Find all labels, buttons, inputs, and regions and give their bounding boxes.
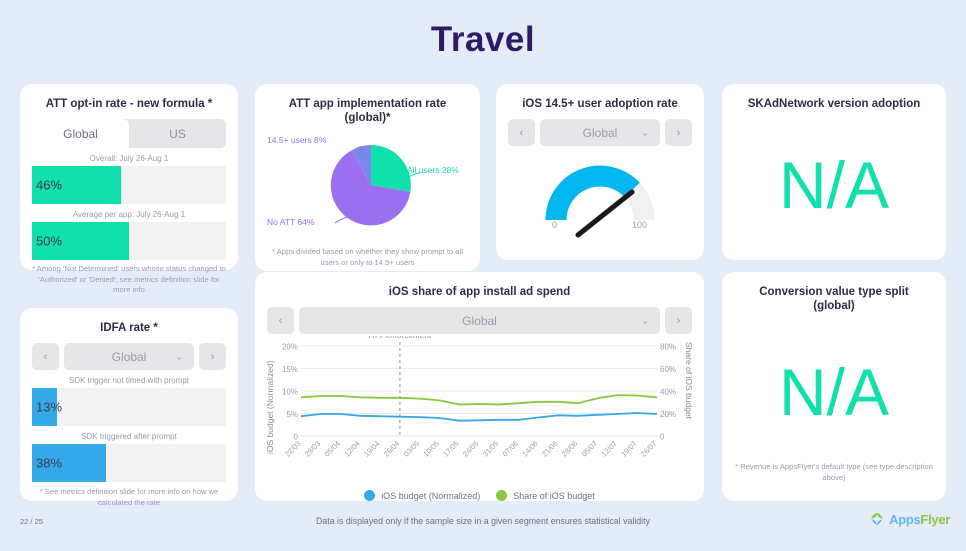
- chevron-down-icon: ⌄: [641, 127, 649, 138]
- page-title: Travel: [0, 20, 966, 60]
- tab-global[interactable]: Global: [32, 119, 129, 148]
- region-select-value: Global: [583, 126, 618, 140]
- x-axis-tick: 17/05: [441, 439, 460, 458]
- idfa-metric-1-bar: 38%: [32, 444, 226, 482]
- idfa-title: IDFA rate *: [32, 321, 226, 335]
- region-select-value: Global: [462, 314, 497, 328]
- x-axis-tick: 31/05: [481, 439, 500, 458]
- region-select[interactable]: Global ⌄: [299, 307, 660, 334]
- x-axis-tick: 21/06: [540, 439, 559, 458]
- conversion-value-title: Conversion value type split (global): [734, 285, 934, 313]
- x-axis-tick: 14/06: [520, 439, 539, 458]
- idfa-selector[interactable]: ‹ Global ⌄ ›: [32, 343, 226, 370]
- prev-button[interactable]: ‹: [267, 307, 294, 334]
- att-implementation-title: ATT app implementation rate (global)*: [267, 97, 468, 125]
- y-axis-left-title: iOS budget (Normalized): [265, 342, 275, 454]
- ios-share-selector[interactable]: ‹ Global ⌄ ›: [267, 307, 692, 334]
- y-axis-right-tick: 60%: [660, 365, 676, 374]
- legend-dot-icon: [364, 490, 375, 501]
- att-optin-metric-1-value: 50%: [36, 234, 62, 249]
- skadnetwork-na-value: N/A: [734, 119, 934, 250]
- ios-share-card: iOS share of app install ad spend ‹ Glob…: [255, 272, 704, 501]
- legend-item-ios-budget: iOS budget (Normalized): [364, 490, 480, 501]
- conversion-value-note: * Revenue is AppsFlyer's default type (s…: [734, 462, 934, 483]
- x-axis-tick: 19/04: [362, 439, 381, 458]
- x-axis-tick: 26/04: [382, 439, 401, 458]
- x-axis-tick: 03/05: [402, 439, 421, 458]
- att-optin-metric-0-label: Overall: July 26-Aug 1: [32, 154, 226, 163]
- footer-note: Data is displayed only if the sample siz…: [0, 516, 966, 526]
- gauge-max-label: 100: [632, 220, 647, 230]
- ios-adoption-gauge: 0 100: [508, 146, 692, 238]
- att-optin-note: * Among 'Not Determined' users whose sta…: [32, 264, 226, 296]
- x-axis-tick: 28/06: [560, 439, 579, 458]
- x-axis-tick: 29/03: [303, 439, 322, 458]
- att-optin-metric-0-bar: 46%: [32, 166, 226, 204]
- appsflyer-mark-icon: [868, 510, 886, 528]
- idfa-note: * See metrics definition slide for more …: [32, 487, 226, 508]
- pie-label-no-att: No ATT 64%: [267, 217, 314, 227]
- y-axis-right-tick: 80%: [660, 343, 676, 352]
- legend-label: Share of iOS budget: [513, 491, 595, 501]
- y-axis-left-tick: 5%: [286, 410, 298, 419]
- prev-button[interactable]: ‹: [32, 343, 59, 370]
- next-button[interactable]: ›: [665, 307, 692, 334]
- pie-label-145-users: 14.5+ users 8%: [267, 135, 326, 145]
- conversion-value-na-value: N/A: [734, 321, 934, 462]
- idfa-metric-0-label: SDK trigger not timed with prompt: [32, 376, 226, 385]
- x-axis-tick: 07/06: [501, 439, 520, 458]
- prev-button[interactable]: ‹: [508, 119, 535, 146]
- ios-adoption-selector[interactable]: ‹ Global ⌄ ›: [508, 119, 692, 146]
- y-axis-left-tick: 15%: [282, 365, 298, 374]
- ios-adoption-card: iOS 14.5+ user adoption rate ‹ Global ⌄ …: [496, 84, 704, 260]
- x-axis-tick: 12/04: [342, 439, 361, 458]
- gauge-needle: [578, 192, 632, 235]
- att-implementation-card: ATT app implementation rate (global)* 14…: [255, 84, 480, 271]
- ios-adoption-title: iOS 14.5+ user adoption rate: [508, 97, 692, 111]
- y-axis-right-tick: 20%: [660, 410, 676, 419]
- ios-share-title: iOS share of app install ad spend: [267, 285, 692, 299]
- x-axis-tick: 12/07: [599, 439, 618, 458]
- idfa-metric-1-value: 38%: [36, 456, 62, 471]
- ios-share-plot: 005%20%10%40%15%60%20%80%ATT enforcement…: [267, 334, 692, 484]
- logo-text-apps: Apps: [889, 512, 920, 527]
- att-implementation-pie: 14.5+ users 8% All users 28% No ATT 64%: [267, 133, 468, 241]
- idfa-metric-1-label: SDK triggered after prompt: [32, 432, 226, 441]
- chevron-down-icon: ⌄: [175, 351, 183, 362]
- legend-label: iOS budget (Normalized): [381, 491, 480, 501]
- tab-us[interactable]: US: [129, 119, 226, 148]
- skadnetwork-card: SKAdNetwork version adoption N/A: [722, 84, 946, 260]
- y-axis-left-tick: 20%: [282, 343, 298, 352]
- logo-text-flyer: Flyer: [920, 512, 950, 527]
- att-optin-metric-1-label: Average per app: July 26-Aug 1: [32, 210, 226, 219]
- line-chart-svg: 005%20%10%40%15%60%20%80%ATT enforcement…: [267, 336, 692, 488]
- att-optin-card: ATT opt-in rate - new formula * Global U…: [20, 84, 238, 270]
- att-optin-metric-0-value: 46%: [36, 178, 62, 193]
- y-axis-right-tick: 40%: [660, 388, 676, 397]
- slide-canvas: Travel ATT opt-in rate - new formula * G…: [0, 0, 966, 551]
- idfa-metric-0-value: 13%: [36, 400, 62, 415]
- att-enforcement-label: ATT enforcement: [369, 336, 432, 340]
- next-button[interactable]: ›: [199, 343, 226, 370]
- y-axis-right-tick: 0: [660, 433, 665, 442]
- conversion-value-card: Conversion value type split (global) N/A…: [722, 272, 946, 501]
- x-axis-tick: 10/05: [421, 439, 440, 458]
- pie-slice-all-users: [371, 145, 411, 192]
- skadnetwork-title: SKAdNetwork version adoption: [734, 97, 934, 111]
- region-select-value: Global: [112, 350, 147, 364]
- legend-dot-icon: [496, 490, 507, 501]
- x-axis-tick: 05/07: [580, 439, 599, 458]
- next-button[interactable]: ›: [665, 119, 692, 146]
- line-series: [301, 413, 657, 421]
- ios-share-legend: iOS budget (Normalized) Share of iOS bud…: [267, 490, 692, 501]
- y-axis-right-title: Share of iOS budget: [684, 342, 694, 454]
- gauge-min-label: 0: [552, 220, 557, 230]
- idfa-metric-0-bar: 13%: [32, 388, 226, 426]
- x-axis-tick: 26/07: [639, 439, 658, 458]
- chevron-down-icon: ⌄: [641, 315, 649, 326]
- x-axis-tick: 05/04: [323, 439, 342, 458]
- att-optin-metric-1-bar: 50%: [32, 222, 226, 260]
- x-axis-tick: 19/07: [619, 439, 638, 458]
- line-series: [301, 395, 657, 404]
- region-select[interactable]: Global ⌄: [540, 119, 660, 146]
- x-axis-tick: 22/03: [283, 439, 302, 458]
- appsflyer-logo: AppsFlyer: [868, 510, 950, 528]
- legend-item-share-ios-budget: Share of iOS budget: [496, 490, 595, 501]
- att-optin-tabs[interactable]: Global US: [32, 119, 226, 148]
- pie-label-all-users: All users 28%: [407, 165, 459, 175]
- att-implementation-note: * Apps divided based on whether they sho…: [267, 247, 468, 268]
- region-select[interactable]: Global ⌄: [64, 343, 194, 370]
- att-optin-title: ATT opt-in rate - new formula *: [32, 97, 226, 111]
- y-axis-left-tick: 10%: [282, 388, 298, 397]
- x-axis-tick: 24/05: [461, 439, 480, 458]
- idfa-card: IDFA rate * ‹ Global ⌄ › SDK trigger not…: [20, 308, 238, 501]
